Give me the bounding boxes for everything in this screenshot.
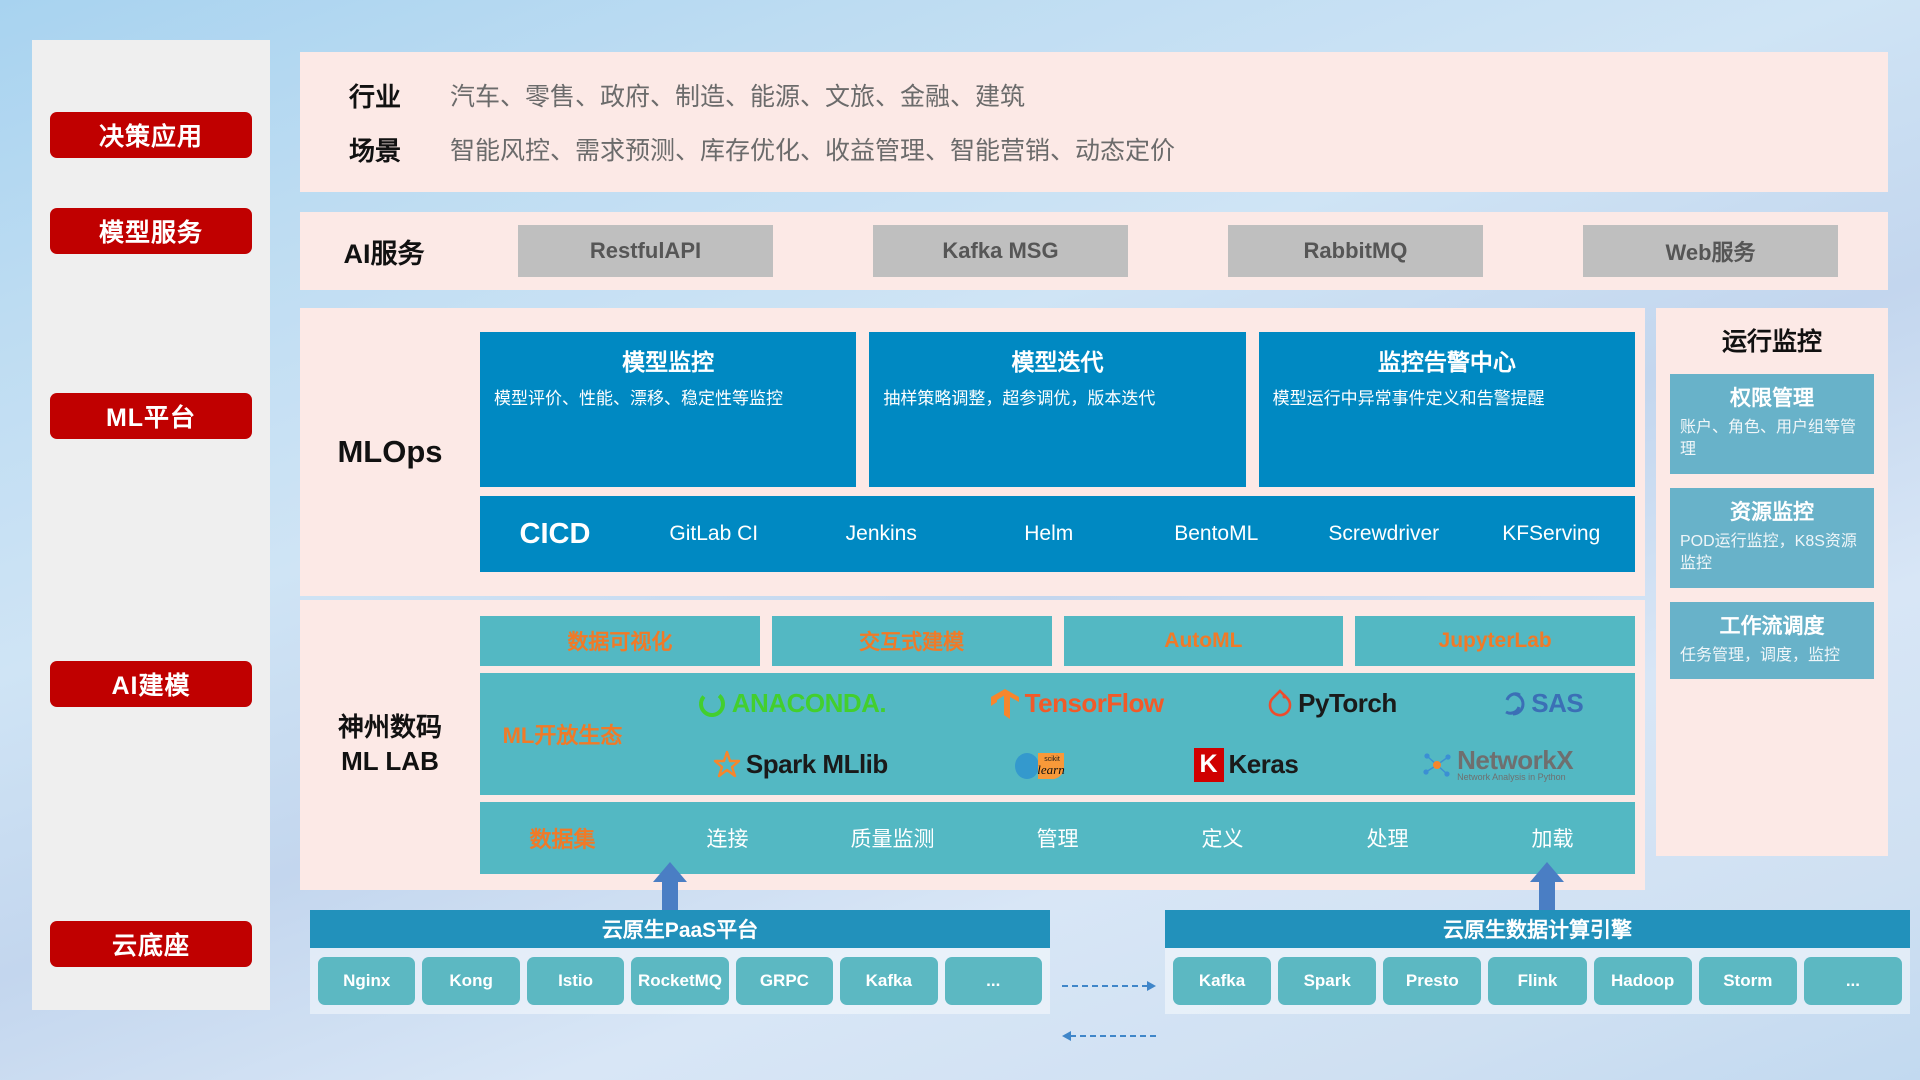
ai-service-chip-kafka-msg[interactable]: Kafka MSG — [873, 225, 1128, 277]
ai-service-label: AI服务 — [300, 232, 468, 271]
mlops-card-model-iteration[interactable]: 模型迭代 抽样策略调整，超参调优，版本迭代 — [869, 332, 1245, 487]
card-title: 监控告警中心 — [1273, 343, 1621, 377]
engine-chip-more[interactable]: ... — [1804, 957, 1902, 1005]
sas-logo: sas — [1500, 688, 1583, 719]
spark-mllib-wordmark: Spark MLlib — [746, 749, 888, 780]
cicd-item-bentoml[interactable]: BentoML — [1133, 522, 1301, 546]
paas-chip-kafka[interactable]: Kafka — [840, 957, 937, 1005]
monitoring-card-resources[interactable]: 资源监控 POD运行监控，K8S资源监控 — [1670, 488, 1874, 588]
keras-wordmark: Keras — [1229, 749, 1299, 780]
ecosystem-logo-row-2: Spark MLlib scikit learn K — [645, 734, 1635, 795]
ai-service-chip-strip: RestfulAPI Kafka MSG RabbitMQ Web服务 — [468, 225, 1888, 277]
ecosystem-logo-grid: ANACONDA. TensorFlow — [645, 673, 1635, 795]
anaconda-wordmark: ANACONDA. — [732, 688, 886, 719]
cicd-item-jenkins[interactable]: Jenkins — [798, 522, 966, 546]
cloud-paas-group: 云原生PaaS平台 Nginx Kong Istio RocketMQ GRPC… — [310, 910, 1050, 1014]
cicd-item-kfserving[interactable]: KFServing — [1468, 522, 1636, 546]
industry-value: 汽车、零售、政府、制造、能源、文旅、金融、建筑 — [450, 77, 1025, 113]
mlops-card-model-monitoring[interactable]: 模型监控 模型评价、性能、漂移、稳定性等监控 — [480, 332, 856, 487]
panel-ai-service: AI服务 RestfulAPI Kafka MSG RabbitMQ Web服务 — [300, 212, 1888, 290]
engine-chip-flink[interactable]: Flink — [1488, 957, 1586, 1005]
cloud-engine-group: 云原生数据计算引擎 Kafka Spark Presto Flink Hadoo… — [1165, 910, 1910, 1014]
card-desc: 模型评价、性能、漂移、稳定性等监控 — [494, 387, 842, 412]
networkx-wordmark: NetworkX — [1457, 747, 1573, 773]
rail-badge-cloud-base[interactable]: 云底座 — [50, 921, 252, 967]
dataset-item-load[interactable]: 加载 — [1470, 823, 1635, 853]
ml-lab-label: 神州数码 ML LAB — [300, 711, 480, 779]
networkx-tagline: Network Analysis in Python — [1457, 773, 1573, 782]
paas-chip-rocketmq[interactable]: RocketMQ — [631, 957, 728, 1005]
panel-runtime-monitoring: 运行监控 权限管理 账户、角色、用户组等管理 资源监控 POD运行监控，K8S资… — [1656, 308, 1888, 856]
keras-logo: K Keras — [1194, 748, 1299, 782]
dashed-arrow-left — [1062, 1035, 1156, 1037]
mlops-card-row: 模型监控 模型评价、性能、漂移、稳定性等监控 模型迭代 抽样策略调整，超参调优，… — [480, 332, 1635, 487]
monitoring-card-permissions[interactable]: 权限管理 账户、角色、用户组等管理 — [1670, 374, 1874, 474]
ai-service-chip-web-service[interactable]: Web服务 — [1583, 225, 1838, 277]
dataset-item-quality[interactable]: 质量监测 — [810, 823, 975, 853]
scenario-value: 智能风控、需求预测、库存优化、收益管理、智能营销、动态定价 — [450, 131, 1175, 167]
paas-chip-kong[interactable]: Kong — [422, 957, 519, 1005]
pytorch-wordmark: PyTorch — [1298, 688, 1397, 719]
cicd-item-list: GitLab CI Jenkins Helm BentoML Screwdriv… — [630, 522, 1635, 546]
cloud-engine-chips: Kafka Spark Presto Flink Hadoop Storm ..… — [1165, 948, 1910, 1014]
cicd-title: CICD — [480, 518, 630, 551]
rail-badge-decision[interactable]: 决策应用 — [50, 112, 252, 158]
pytorch-logo: PyTorch — [1267, 688, 1397, 719]
scikit-learn-logo: scikit learn — [1012, 748, 1070, 782]
layer-cloud-foundation: 云原生PaaS平台 Nginx Kong Istio RocketMQ GRPC… — [310, 880, 1910, 1060]
anaconda-logo: ANACONDA. — [697, 688, 886, 719]
mlops-body: 模型监控 模型评价、性能、漂移、稳定性等监控 模型迭代 抽样策略调整，超参调优，… — [480, 332, 1645, 572]
dataset-item-define[interactable]: 定义 — [1140, 823, 1305, 853]
mlops-card-alert-center[interactable]: 监控告警中心 模型运行中异常事件定义和告警提醒 — [1259, 332, 1635, 487]
monitoring-title: 运行监控 — [1670, 322, 1874, 358]
ecosystem-logo-row-1: ANACONDA. TensorFlow — [645, 673, 1635, 734]
card-title: 工作流调度 — [1680, 610, 1864, 640]
scenario-label: 场景 — [300, 131, 450, 168]
cicd-item-gitlab-ci[interactable]: GitLab CI — [630, 522, 798, 546]
card-title: 资源监控 — [1680, 496, 1864, 526]
engine-chip-hadoop[interactable]: Hadoop — [1594, 957, 1692, 1005]
ai-service-chip-restfulapi[interactable]: RestfulAPI — [518, 225, 773, 277]
card-title: 权限管理 — [1680, 382, 1864, 412]
sas-icon — [1500, 690, 1526, 718]
rail-badge-model-service[interactable]: 模型服务 — [50, 208, 252, 254]
card-desc: 模型运行中异常事件定义和告警提醒 — [1273, 387, 1621, 412]
ecosystem-label: ML开放生态 — [480, 718, 645, 750]
arrow-up-engine — [1530, 862, 1564, 914]
networkx-logo: NetworkX Network Analysis in Python — [1422, 747, 1573, 782]
tensorflow-icon — [990, 688, 1020, 720]
panel-ml-lab: 神州数码 ML LAB 数据可视化 交互式建模 AutoML JupyterLa… — [300, 600, 1645, 890]
dataset-item-list: 连接 质量监测 管理 定义 处理 加载 — [645, 823, 1635, 853]
engine-chip-kafka[interactable]: Kafka — [1173, 957, 1271, 1005]
paas-chip-more[interactable]: ... — [945, 957, 1042, 1005]
engine-chip-storm[interactable]: Storm — [1699, 957, 1797, 1005]
keras-icon: K — [1194, 748, 1224, 782]
tab-data-visualization[interactable]: 数据可视化 — [480, 616, 760, 666]
tensorflow-wordmark: TensorFlow — [1025, 688, 1164, 719]
sas-wordmark: sas — [1531, 688, 1583, 719]
rail-badge-ml-platform[interactable]: ML平台 — [50, 393, 252, 439]
cicd-item-screwdriver[interactable]: Screwdriver — [1300, 522, 1468, 546]
networkx-icon — [1422, 750, 1452, 780]
engine-chip-spark[interactable]: Spark — [1278, 957, 1376, 1005]
dataset-item-connect[interactable]: 连接 — [645, 823, 810, 853]
svg-text:learn: learn — [1037, 762, 1064, 777]
paas-chip-nginx[interactable]: Nginx — [318, 957, 415, 1005]
dashed-arrow-right — [1062, 985, 1156, 987]
cloud-engine-title: 云原生数据计算引擎 — [1165, 910, 1910, 948]
card-desc: 抽样策略调整，超参调优，版本迭代 — [883, 387, 1231, 412]
cloud-paas-chips: Nginx Kong Istio RocketMQ GRPC Kafka ... — [310, 948, 1050, 1014]
ai-service-chip-rabbitmq[interactable]: RabbitMQ — [1228, 225, 1483, 277]
networkx-wordmark-block: NetworkX Network Analysis in Python — [1457, 747, 1573, 782]
panel-industry-scenario: 行业 汽车、零售、政府、制造、能源、文旅、金融、建筑 场景 智能风控、需求预测、… — [300, 52, 1888, 192]
card-title: 模型监控 — [494, 343, 842, 377]
cicd-item-helm[interactable]: Helm — [965, 522, 1133, 546]
engine-chip-presto[interactable]: Presto — [1383, 957, 1481, 1005]
paas-chip-grpc[interactable]: GRPC — [736, 957, 833, 1005]
ml-lab-body: 数据可视化 交互式建模 AutoML JupyterLab ML开放生态 ANA… — [480, 616, 1645, 874]
tab-interactive-modeling[interactable]: 交互式建模 — [772, 616, 1052, 666]
dataset-item-manage[interactable]: 管理 — [975, 823, 1140, 853]
scenario-row: 场景 智能风控、需求预测、库存优化、收益管理、智能营销、动态定价 — [300, 122, 1888, 176]
card-title: 模型迭代 — [883, 343, 1231, 377]
layer-rail: 决策应用 模型服务 ML平台 AI建模 云底座 — [32, 40, 270, 1010]
spark-star-icon — [707, 750, 741, 780]
tensorflow-logo: TensorFlow — [990, 688, 1164, 720]
monitoring-card-workflow[interactable]: 工作流调度 任务管理，调度，监控 — [1670, 602, 1874, 679]
panel-mlops: MLOps 模型监控 模型评价、性能、漂移、稳定性等监控 模型迭代 抽样策略调整… — [300, 308, 1645, 596]
industry-label: 行业 — [300, 77, 450, 114]
mlops-label: MLOps — [300, 434, 480, 470]
paas-chip-istio[interactable]: Istio — [527, 957, 624, 1005]
ml-lab-tab-row: 数据可视化 交互式建模 AutoML JupyterLab — [480, 616, 1635, 666]
spark-mllib-logo: Spark MLlib — [707, 749, 888, 780]
ml-lab-label-line2: ML LAB — [300, 745, 480, 779]
industry-row: 行业 汽车、零售、政府、制造、能源、文旅、金融、建筑 — [300, 68, 1888, 122]
ml-lab-label-line1: 神州数码 — [300, 711, 480, 745]
rail-badge-ai-modeling[interactable]: AI建模 — [50, 661, 252, 707]
card-desc: 账户、角色、用户组等管理 — [1680, 417, 1864, 462]
dataset-item-process[interactable]: 处理 — [1305, 823, 1470, 853]
card-desc: POD运行监控，K8S资源监控 — [1680, 531, 1864, 576]
ml-open-ecosystem: ML开放生态 ANACONDA. — [480, 673, 1635, 795]
tab-jupyterlab[interactable]: JupyterLab — [1355, 616, 1635, 666]
tab-automl[interactable]: AutoML — [1064, 616, 1344, 666]
dataset-label: 数据集 — [480, 822, 645, 854]
cloud-paas-title: 云原生PaaS平台 — [310, 910, 1050, 948]
pytorch-icon — [1267, 689, 1293, 719]
card-desc: 任务管理，调度，监控 — [1680, 645, 1864, 667]
scikit-learn-icon: scikit learn — [1012, 748, 1070, 782]
anaconda-icon — [697, 689, 727, 719]
arrow-up-paas — [653, 862, 687, 914]
mlops-cicd-bar: CICD GitLab CI Jenkins Helm BentoML Scre… — [480, 496, 1635, 572]
